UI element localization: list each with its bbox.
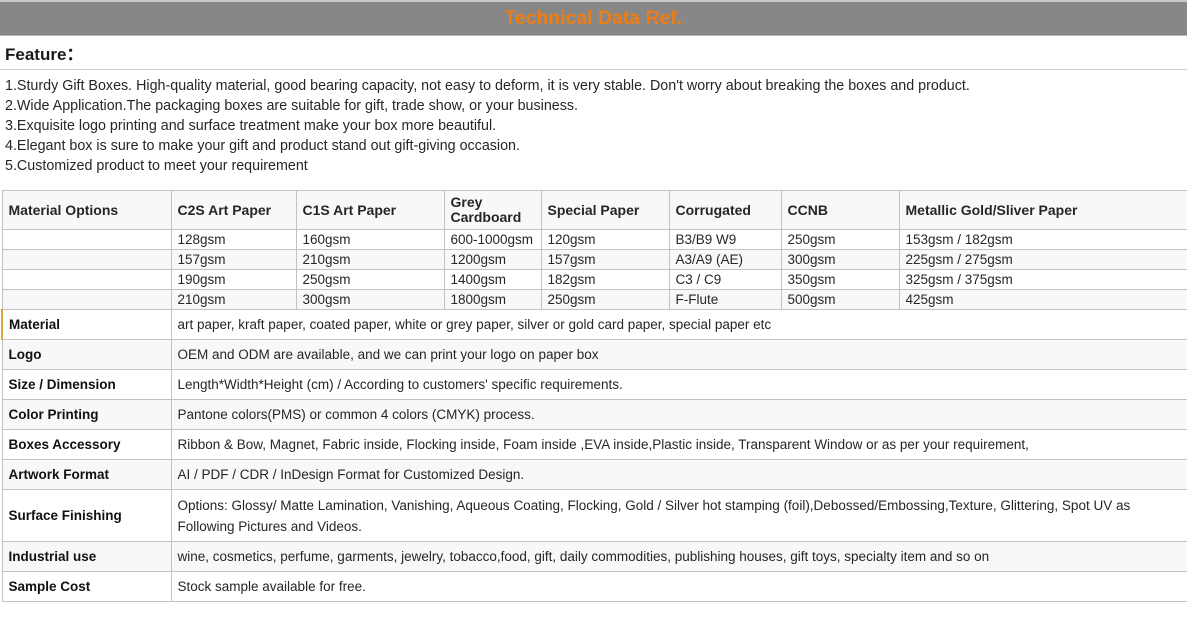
- cell: 210gsm: [171, 290, 296, 310]
- page-title: Technical Data Ref.: [505, 9, 683, 28]
- cell: 160gsm: [296, 230, 444, 250]
- column-header-corrugated: Corrugated: [669, 191, 781, 230]
- specification-table: Material Options C2S Art Paper C1S Art P…: [1, 190, 1187, 602]
- detail-value: AI / PDF / CDR / InDesign Format for Cus…: [171, 460, 1187, 490]
- detail-row-boxes-accessory: Boxes Accessory Ribbon & Bow, Magnet, Fa…: [2, 430, 1187, 460]
- cell: 300gsm: [781, 250, 899, 270]
- detail-value-text: wine, cosmetics, perfume, garments, jewe…: [178, 546, 1181, 567]
- title-bar: Technical Data Ref.: [0, 0, 1187, 36]
- detail-value: Stock sample available for free.: [171, 572, 1187, 602]
- cell: 300gsm: [296, 290, 444, 310]
- table-row: 128gsm 160gsm 600-1000gsm 120gsm B3/B9 W…: [2, 230, 1187, 250]
- cell: 225gsm / 275gsm: [899, 250, 1187, 270]
- detail-value-text: Stock sample available for free.: [178, 576, 1181, 597]
- cell: 157gsm: [171, 250, 296, 270]
- cell: 250gsm: [541, 290, 669, 310]
- detail-value: wine, cosmetics, perfume, garments, jewe…: [171, 542, 1187, 572]
- table-row: 190gsm 250gsm 1400gsm 182gsm C3 / C9 350…: [2, 270, 1187, 290]
- detail-value-text: Ribbon & Bow, Magnet, Fabric inside, Flo…: [178, 434, 1181, 455]
- cell: 190gsm: [171, 270, 296, 290]
- detail-value: Ribbon & Bow, Magnet, Fabric inside, Flo…: [171, 430, 1187, 460]
- detail-value-text: Length*Width*Height (cm) / According to …: [178, 374, 1181, 395]
- detail-value-text: OEM and ODM are available, and we can pr…: [178, 344, 1181, 365]
- column-header-special-paper: Special Paper: [541, 191, 669, 230]
- cell: 182gsm: [541, 270, 669, 290]
- cell: C3 / C9: [669, 270, 781, 290]
- column-header-metallic-paper: Metallic Gold/Sliver Paper: [899, 191, 1187, 230]
- feature-heading: Feature：: [5, 40, 83, 65]
- detail-label: Size / Dimension: [2, 370, 171, 400]
- detail-label: Surface Finishing: [2, 490, 171, 542]
- detail-row-surface-finishing: Surface Finishing Options: Glossy/ Matte…: [2, 490, 1187, 542]
- detail-row-size-dimension: Size / Dimension Length*Width*Height (cm…: [2, 370, 1187, 400]
- detail-row-material: Material art paper, kraft paper, coated …: [2, 310, 1187, 340]
- feature-list: 1.Sturdy Gift Boxes. High-quality materi…: [0, 70, 1187, 184]
- cell: 120gsm: [541, 230, 669, 250]
- feature-line: 3.Exquisite logo printing and surface tr…: [5, 116, 1187, 136]
- cell: 250gsm: [296, 270, 444, 290]
- cell: 128gsm: [171, 230, 296, 250]
- detail-label: Artwork Format: [2, 460, 171, 490]
- cell: 500gsm: [781, 290, 899, 310]
- detail-label: Boxes Accessory: [2, 430, 171, 460]
- feature-line: 1.Sturdy Gift Boxes. High-quality materi…: [5, 76, 1187, 96]
- cell: [2, 230, 171, 250]
- detail-row-artwork-format: Artwork Format AI / PDF / CDR / InDesign…: [2, 460, 1187, 490]
- cell: 1800gsm: [444, 290, 541, 310]
- cell: 350gsm: [781, 270, 899, 290]
- cell: 425gsm: [899, 290, 1187, 310]
- cell: 250gsm: [781, 230, 899, 250]
- detail-value: OEM and ODM are available, and we can pr…: [171, 340, 1187, 370]
- detail-label: Industrial use: [2, 542, 171, 572]
- detail-value: Pantone colors(PMS) or common 4 colors (…: [171, 400, 1187, 430]
- column-header-c1s-art-paper: C1S Art Paper: [296, 191, 444, 230]
- detail-value-text: AI / PDF / CDR / InDesign Format for Cus…: [178, 464, 1181, 485]
- table-header-row: Material Options C2S Art Paper C1S Art P…: [2, 191, 1187, 230]
- detail-value: art paper, kraft paper, coated paper, wh…: [171, 310, 1187, 340]
- cell: A3/A9 (AE): [669, 250, 781, 270]
- detail-value-text: Pantone colors(PMS) or common 4 colors (…: [178, 404, 1181, 425]
- column-header-c2s-art-paper: C2S Art Paper: [171, 191, 296, 230]
- cell: 153gsm / 182gsm: [899, 230, 1187, 250]
- detail-value-text: art paper, kraft paper, coated paper, wh…: [178, 314, 1181, 335]
- cell: 1400gsm: [444, 270, 541, 290]
- table-row: 157gsm 210gsm 1200gsm 157gsm A3/A9 (AE) …: [2, 250, 1187, 270]
- cell: [2, 250, 171, 270]
- detail-value-text: Options: Glossy/ Matte Lamination, Vanis…: [178, 495, 1181, 537]
- feature-line: 5.Customized product to meet your requir…: [5, 156, 1187, 176]
- column-header-grey-cardboard: Grey Cardboard: [444, 191, 541, 230]
- technical-data-sheet: Technical Data Ref. Feature： 1.Sturdy Gi…: [0, 0, 1187, 620]
- detail-value: Options: Glossy/ Matte Lamination, Vanis…: [171, 490, 1187, 542]
- detail-value: Length*Width*Height (cm) / According to …: [171, 370, 1187, 400]
- cell: [2, 270, 171, 290]
- cell: B3/B9 W9: [669, 230, 781, 250]
- detail-row-sample-cost: Sample Cost Stock sample available for f…: [2, 572, 1187, 602]
- detail-row-industrial-use: Industrial use wine, cosmetics, perfume,…: [2, 542, 1187, 572]
- feature-line: 4.Elegant box is sure to make your gift …: [5, 136, 1187, 156]
- detail-label: Logo: [2, 340, 171, 370]
- column-header-material-options: Material Options: [2, 191, 171, 230]
- cell: 600-1000gsm: [444, 230, 541, 250]
- detail-label: Material: [2, 310, 171, 340]
- cell: F-Flute: [669, 290, 781, 310]
- detail-row-logo: Logo OEM and ODM are available, and we c…: [2, 340, 1187, 370]
- cell: 157gsm: [541, 250, 669, 270]
- detail-label: Sample Cost: [2, 572, 171, 602]
- detail-label: Color Printing: [2, 400, 171, 430]
- feature-heading-row: Feature：: [0, 36, 1187, 70]
- column-header-ccnb: CCNB: [781, 191, 899, 230]
- cell: 325gsm / 375gsm: [899, 270, 1187, 290]
- cell: 210gsm: [296, 250, 444, 270]
- detail-row-color-printing: Color Printing Pantone colors(PMS) or co…: [2, 400, 1187, 430]
- table-row: 210gsm 300gsm 1800gsm 250gsm F-Flute 500…: [2, 290, 1187, 310]
- cell: 1200gsm: [444, 250, 541, 270]
- cell: [2, 290, 171, 310]
- feature-line: 2.Wide Application.The packaging boxes a…: [5, 96, 1187, 116]
